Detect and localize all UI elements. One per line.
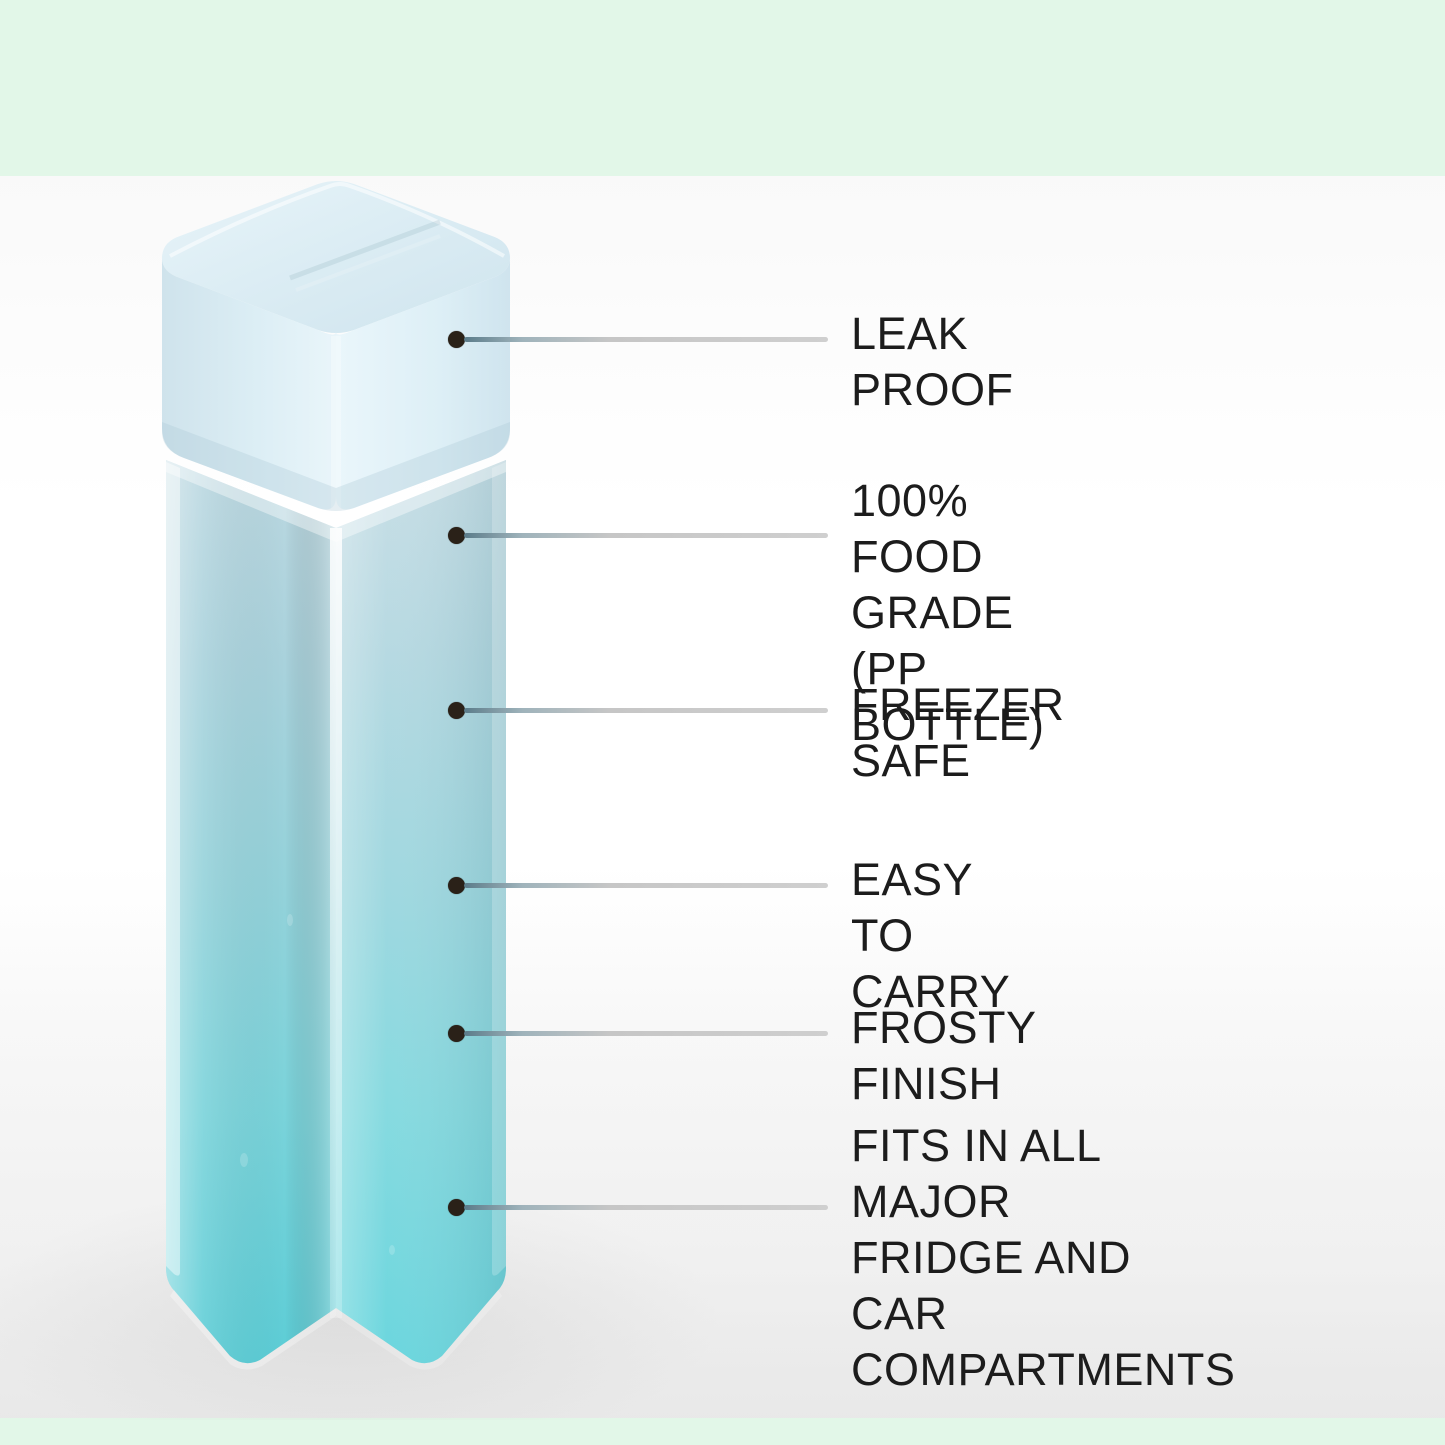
callout-dot-frosty-finish <box>448 1025 465 1042</box>
feature-label-easy-to-carry: EASY TO CARRY <box>851 852 1010 1020</box>
feature-label-frosty-finish: FROSTY FINISH <box>851 1000 1036 1112</box>
feature-label-fits-compartments: FITS IN ALL MAJOR FRIDGE AND CAR COMPART… <box>851 1118 1235 1398</box>
feature-label-leak-proof: LEAK PROOF <box>851 306 1014 418</box>
callout-dot-easy-to-carry <box>448 877 465 894</box>
callout-line-leak-proof <box>464 337 828 342</box>
callout-line-freezer-safe <box>464 708 828 713</box>
feature-label-freezer-safe: FREEZER SAFE <box>851 677 1065 789</box>
callout-line-frosty-finish <box>464 1031 828 1036</box>
callout-dot-fits-compartments <box>448 1199 465 1216</box>
callout-line-fits-compartments <box>464 1205 828 1210</box>
callout-line-easy-to-carry <box>464 883 828 888</box>
callout-dot-freezer-safe <box>448 702 465 719</box>
callout-line-food-grade <box>464 533 828 538</box>
callout-dot-leak-proof <box>448 331 465 348</box>
feature-callouts: LEAK PROOF 100% FOOD GRADE (PP BOTTLE) F… <box>0 0 1445 1445</box>
infographic-canvas: LEAK PROOF 100% FOOD GRADE (PP BOTTLE) F… <box>0 0 1445 1445</box>
callout-dot-food-grade <box>448 527 465 544</box>
